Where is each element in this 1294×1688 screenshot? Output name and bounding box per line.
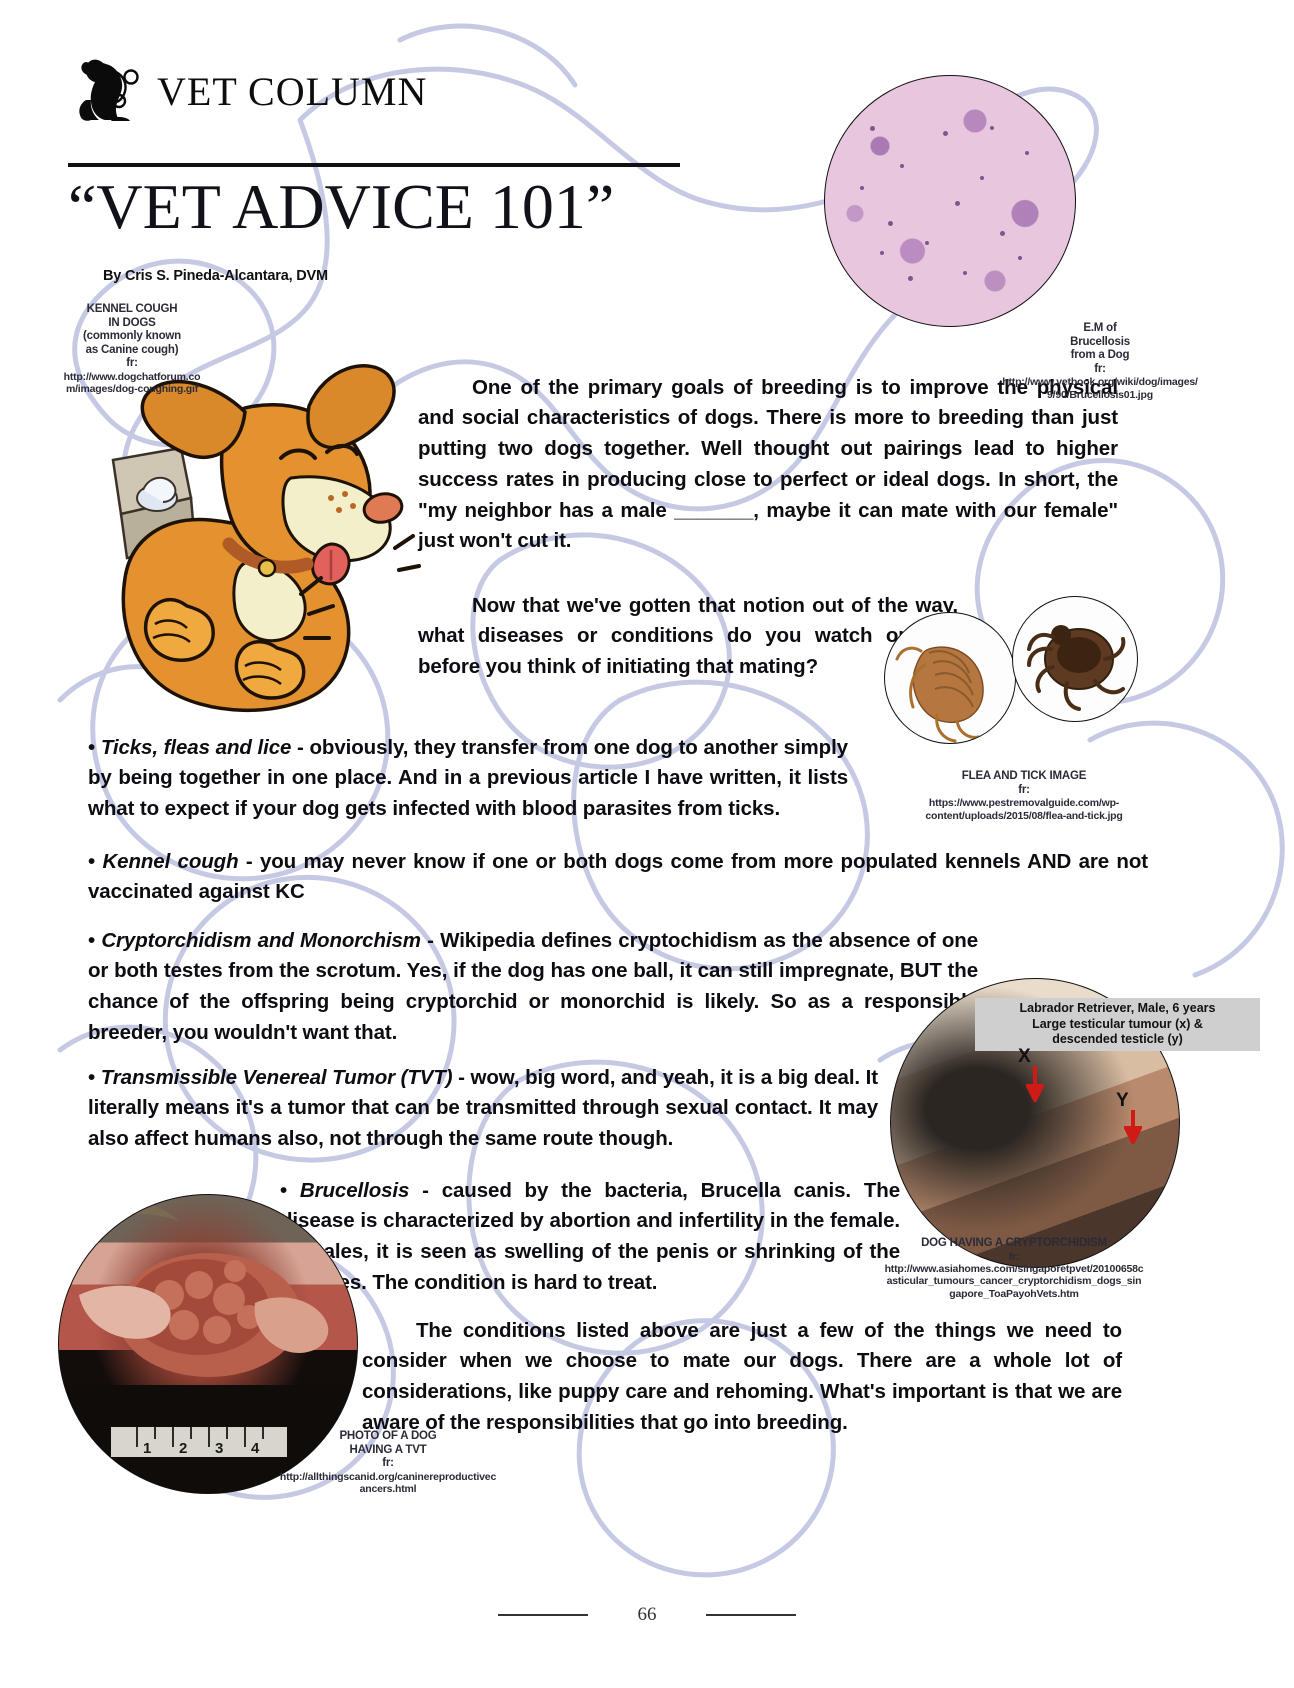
marker-y-label: Y <box>1116 1090 1129 1112</box>
caption-kennel-note1: (commonly known <box>62 330 202 344</box>
caption-crypto-title: DOG HAVING A CRYPTORCHIDISM <box>884 1237 1144 1251</box>
caption-brucellosis-line3: from a Dog <box>1000 349 1200 363</box>
caption-brucellosis: E.M of Brucellosis from a Dog fr: http:/… <box>1000 322 1200 401</box>
bullet-kennel-cough: • Kennel cough - you may never know if o… <box>88 847 1148 909</box>
bullet-term: Cryptorchidism and Monorchism <box>101 929 421 952</box>
caption-brucellosis-fr: fr: <box>1000 363 1200 377</box>
bullet-marker: • <box>280 1179 287 1202</box>
bullet-term: Ticks, fleas and lice <box>101 736 292 759</box>
bullet-marker: • <box>88 1066 95 1089</box>
bullet-dash: - <box>409 1179 441 1202</box>
column-label: VET COLUMN <box>157 68 427 115</box>
bullet-marker: • <box>88 736 95 759</box>
caption-kennel-cough: KENNEL COUGH IN DOGS (commonly known as … <box>62 303 202 396</box>
caption-tvt: PHOTO OF A DOG HAVING A TVT fr: http://a… <box>278 1430 498 1495</box>
svg-text:4: 4 <box>251 1440 260 1457</box>
tick-image <box>1012 596 1138 722</box>
bullet-dash: - <box>239 850 260 873</box>
caption-crypto-url: fr: http://www.asiahomes.com/singaporetp… <box>884 1251 1144 1301</box>
page-footer: 66 <box>0 1596 1294 1636</box>
caption-brucellosis-line2: Brucellosis <box>1000 336 1200 350</box>
crypto-label-line2: Large testicular tumour (x) & <box>979 1017 1256 1033</box>
caption-brucellosis-line1: E.M of <box>1000 322 1200 336</box>
caption-kennel-note2: as Canine cough) <box>62 344 202 358</box>
bullet-term: Brucellosis <box>300 1179 409 1202</box>
bullet-brucellosis: • Brucellosis - caused by the bacteria, … <box>280 1176 900 1299</box>
bullet-dash: - <box>291 736 309 759</box>
bullet-tvt: • Transmissible Venereal Tumor (TVT) - w… <box>88 1063 878 1155</box>
masthead-divider <box>68 163 680 167</box>
brucellosis-histology-image <box>824 75 1076 327</box>
flea-image <box>884 612 1016 744</box>
bullet-dash: - <box>421 929 440 952</box>
page-number: 66 <box>0 1604 1294 1626</box>
magazine-page: VET COLUMN “VET ADVICE 101” By Cris S. P… <box>0 0 1294 1688</box>
sitting-dog-with-stethoscope-icon <box>75 55 153 125</box>
caption-tvt-title2: HAVING A TVT <box>278 1444 498 1458</box>
bullet-term: Kennel cough <box>102 850 238 873</box>
bullet-marker: • <box>88 850 95 873</box>
caption-kennel-title2: IN DOGS <box>62 317 202 331</box>
svg-text:1: 1 <box>143 1440 151 1457</box>
page-title: “VET ADVICE 101” <box>68 170 768 244</box>
caption-kennel-url: http://www.dogchatforum.com/images/dog-c… <box>62 371 202 396</box>
caption-kennel-fr: fr: <box>62 357 202 371</box>
caption-flea-tick-fr: fr: <box>884 784 1164 798</box>
caption-flea-tick-url: https://www.pestremovalguide.com/wp-cont… <box>884 797 1164 822</box>
paragraph-question: Now that we've gotten that notion out of… <box>418 591 958 683</box>
caption-cryptorchidism: DOG HAVING A CRYPTORCHIDISM fr: http://w… <box>884 1237 1144 1300</box>
caption-flea-tick-title: FLEA AND TICK IMAGE <box>884 770 1164 784</box>
bullet-term: Transmissible Venereal Tumor (TVT) <box>101 1066 453 1089</box>
caption-tvt-title1: PHOTO OF A DOG <box>278 1430 498 1444</box>
bullet-cryptorchidism-monorchism: • Cryptorchidism and Monorchism - Wikipe… <box>88 926 978 1049</box>
masthead: VET COLUMN <box>75 55 695 170</box>
bullet-marker: • <box>88 929 95 952</box>
caption-tvt-fr: fr: <box>278 1457 498 1471</box>
crypto-label-line1: Labrador Retriever, Male, 6 years <box>979 1001 1256 1017</box>
marker-x-label: X <box>1018 1046 1031 1068</box>
caption-flea-tick: FLEA AND TICK IMAGE fr: https://www.pest… <box>884 770 1164 822</box>
cryptorchidism-photo-label: Labrador Retriever, Male, 6 years Large … <box>975 998 1260 1051</box>
svg-text:3: 3 <box>215 1440 223 1457</box>
arrow-y-icon <box>1124 1110 1142 1144</box>
svg-text:2: 2 <box>179 1440 187 1457</box>
caption-brucellosis-url: http://www.vetbook.org/wiki/dog/images/9… <box>1000 376 1200 401</box>
cartoon-coughing-dog-image <box>95 348 425 718</box>
arrow-x-icon <box>1026 1066 1044 1102</box>
bullet-dash: - <box>453 1066 471 1089</box>
paragraph-conclusion: The conditions listed above are just a f… <box>362 1316 1122 1439</box>
caption-kennel-title1: KENNEL COUGH <box>62 303 202 317</box>
byline: By Cris S. Pineda-Alcantara, DVM <box>103 268 328 284</box>
caption-tvt-url: http://allthingscanid.org/caninereproduc… <box>278 1471 498 1496</box>
bullet-ticks-fleas-lice: • Ticks, fleas and lice - obviously, the… <box>88 733 848 825</box>
